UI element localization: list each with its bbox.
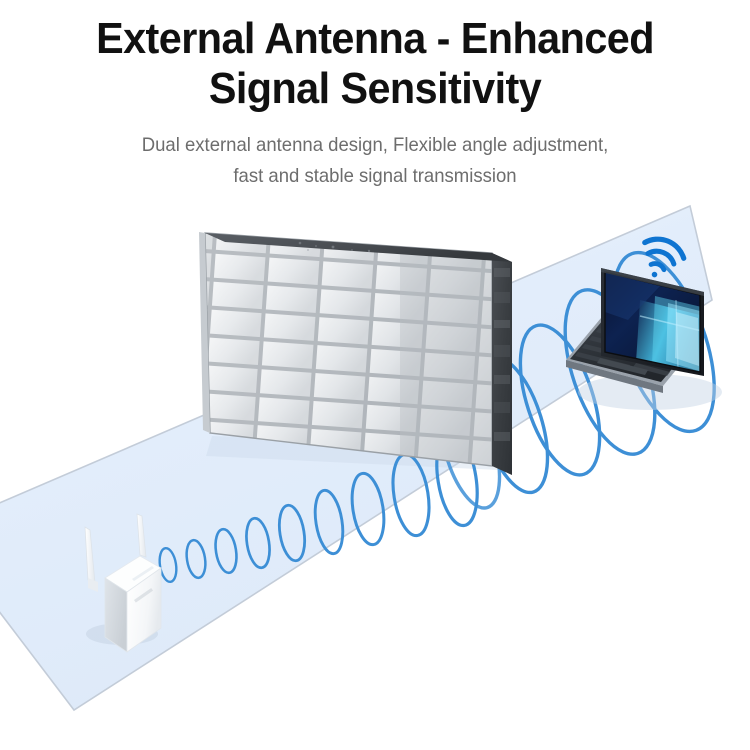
page-title-line-2: Signal Sensitivity	[45, 64, 705, 114]
product-feature-banner: External Antenna - Enhanced Signal Sensi…	[0, 0, 750, 750]
page-subtitle: Dual external antenna design, Flexible a…	[19, 130, 732, 190]
page-title: External Antenna - Enhanced Signal Sensi…	[23, 14, 728, 113]
wifi-dot	[651, 271, 658, 278]
wifi-signal-icon	[634, 233, 687, 285]
headline-block: External Antenna - Enhanced Signal Sensi…	[0, 14, 750, 191]
wifi-arc-inner	[651, 262, 665, 270]
page-subtitle-line-1: Dual external antenna design, Flexible a…	[76, 130, 675, 160]
wifi-arc-middle	[648, 247, 676, 264]
page-subtitle-line-2: fast and stable signal transmission	[76, 161, 675, 191]
page-title-line-1: External Antenna - Enhanced	[45, 14, 705, 64]
